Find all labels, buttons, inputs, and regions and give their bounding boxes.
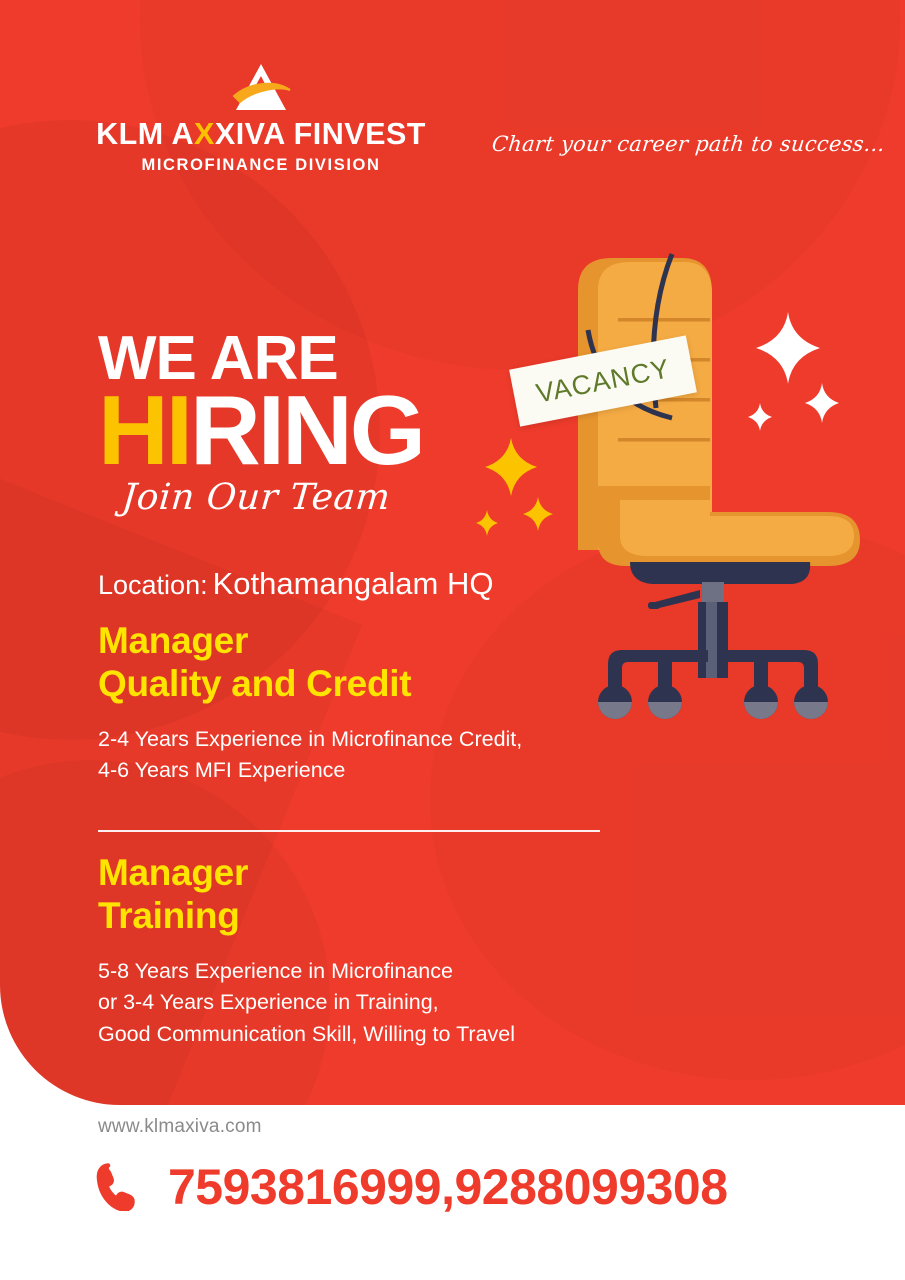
contact-row: 7593816999,9288099308: [96, 1158, 728, 1216]
office-chair-illustration: [560, 250, 890, 730]
brand-name-part2: XIVA FINVEST: [215, 117, 426, 151]
sparkle-icon: [485, 438, 537, 496]
job-title: Manager Training: [98, 852, 515, 938]
brand-tagline: Chart your career path to success...: [491, 132, 886, 156]
sparkle-icon: [805, 383, 839, 423]
vacancy-sign-label: VACANCY: [534, 353, 673, 409]
job-title-line-1: Manager: [98, 620, 522, 663]
job-desc-line-3: Good Communication Skill, Willing to Tra…: [98, 1019, 515, 1051]
location-value: Kothamangalam HQ: [213, 566, 494, 601]
section-divider: [98, 830, 600, 832]
phone-numbers[interactable]: 7593816999,9288099308: [168, 1158, 728, 1216]
sparkle-icon: [476, 510, 498, 536]
mountain-peak-icon: [216, 62, 306, 114]
location-label: Location:: [98, 570, 208, 600]
sparkle-icon: [756, 312, 820, 384]
brand-logo: KLM AXXIVA FINVEST MICROFINANCE DIVISION: [96, 62, 426, 175]
job-title-line-2: Training: [98, 895, 515, 938]
brand-name-accent: X: [194, 117, 215, 151]
job-title-line-1: Manager: [98, 852, 515, 895]
sparkle-icon: [523, 497, 553, 531]
brand-division: MICROFINANCE DIVISION: [96, 156, 426, 175]
job-description: 2-4 Years Experience in Microfinance Cre…: [98, 724, 522, 787]
job-listing: Manager Training 5-8 Years Experience in…: [98, 852, 515, 1051]
job-title-line-2: Quality and Credit: [98, 663, 522, 706]
job-title: Manager Quality and Credit: [98, 620, 522, 706]
job-desc-line-1: 2-4 Years Experience in Microfinance Cre…: [98, 724, 522, 756]
headline-subline: Join Our Team: [120, 477, 392, 518]
brand-name-part1: KLM A: [96, 117, 194, 151]
headline-accent: HI: [98, 375, 190, 485]
brand-name: KLM AXXIVA FINVEST: [96, 118, 426, 150]
hiring-poster: KLM AXXIVA FINVEST MICROFINANCE DIVISION…: [0, 0, 905, 1280]
headline-line-2: HIRING: [98, 385, 423, 475]
website-url[interactable]: www.klmaxiva.com: [98, 1116, 262, 1138]
sparkle-icon: [748, 403, 772, 431]
job-listing: Manager Quality and Credit 2-4 Years Exp…: [98, 620, 522, 787]
headline-block: WE ARE HIRING Join Our Team: [98, 330, 423, 518]
job-description: 5-8 Years Experience in Microfinance or …: [98, 956, 515, 1051]
job-desc-line-2: or 3-4 Years Experience in Training,: [98, 987, 515, 1019]
phone-handset-icon: [96, 1163, 136, 1211]
location-row: Location:Kothamangalam HQ: [98, 566, 493, 602]
job-desc-line-1: 5-8 Years Experience in Microfinance: [98, 956, 515, 988]
job-desc-line-2: 4-6 Years MFI Experience: [98, 755, 522, 787]
headline-rest: RING: [190, 375, 423, 485]
